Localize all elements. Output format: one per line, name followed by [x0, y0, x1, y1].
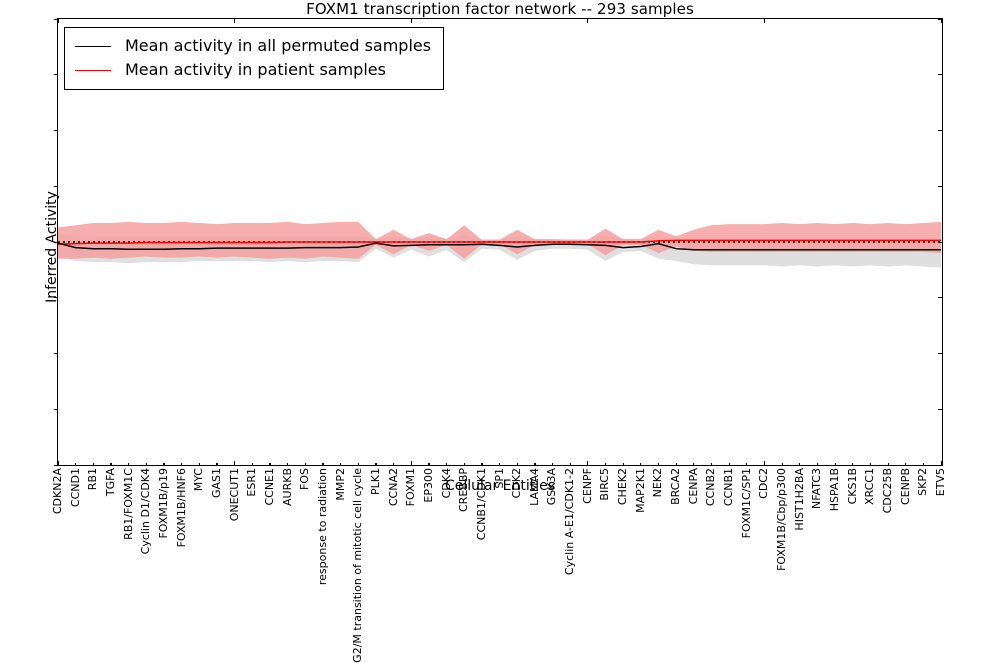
x-category-tick [181, 463, 182, 465]
x-category-tick [305, 463, 306, 465]
x-category-tick [746, 463, 747, 465]
x-category-tick [676, 463, 677, 465]
x-category-tick [782, 463, 783, 465]
x-category-tick [570, 463, 571, 465]
x-category-tick [923, 463, 924, 465]
x-category-tick [587, 463, 588, 465]
x-tick-mark-top [411, 19, 412, 23]
legend: Mean activity in all permuted samples Me… [64, 27, 444, 90]
x-category-tick [852, 463, 853, 465]
x-axis-title: Cellular Entities [0, 478, 1000, 494]
x-category-tick [817, 463, 818, 465]
x-category-tick [75, 463, 76, 465]
x-category-tick [234, 463, 235, 465]
legend-swatch-patient-icon [75, 70, 111, 71]
x-category-tick [905, 463, 906, 465]
x-category-tick [411, 463, 412, 465]
x-category-tick [729, 463, 730, 465]
x-category-tick [110, 463, 111, 465]
y-tick-mark-right [938, 74, 942, 75]
x-tick-mark-top [764, 19, 765, 23]
x-category-tick [322, 463, 323, 465]
legend-label-patient: Mean activity in patient samples [125, 62, 386, 78]
y-tick-mark-right [938, 130, 942, 131]
legend-item-permuted: Mean activity in all permuted samples [75, 34, 431, 58]
x-category-tick [358, 463, 359, 465]
x-category-tick [128, 463, 129, 465]
x-category-tick [711, 463, 712, 465]
x-category-tick [446, 463, 447, 465]
x-category-tick [464, 463, 465, 465]
x-category-tick [163, 463, 164, 465]
x-tick-label: ONECUT1 [229, 468, 240, 521]
x-category-tick [888, 463, 889, 465]
y-tick-mark-right [938, 186, 942, 187]
x-category-tick [764, 463, 765, 465]
y-tick-mark-right [938, 409, 942, 410]
x-category-tick [499, 463, 500, 465]
x-category-tick [640, 463, 641, 465]
x-category-tick [552, 463, 553, 465]
x-tick-mark-top [234, 19, 235, 23]
x-category-tick [93, 463, 94, 465]
x-category-tick [605, 463, 606, 465]
y-tick-mark-right [938, 297, 942, 298]
legend-swatch-permuted-icon [75, 46, 111, 47]
y-tick-mark-right [938, 353, 942, 354]
x-category-tick [252, 463, 253, 465]
x-category-tick [428, 463, 429, 465]
x-category-tick [199, 463, 200, 465]
legend-label-permuted: Mean activity in all permuted samples [125, 38, 431, 54]
x-category-tick [623, 463, 624, 465]
x-category-tick [340, 463, 341, 465]
x-category-tick [287, 463, 288, 465]
x-category-tick [658, 463, 659, 465]
x-category-tick [799, 463, 800, 465]
x-category-tick [517, 463, 518, 465]
x-tick-label: G2/M transition of mitotic cell cycle [352, 468, 363, 663]
x-category-tick [941, 463, 942, 465]
x-tick-mark-top [941, 19, 942, 23]
x-category-tick [693, 463, 694, 465]
y-tick-mark-right [938, 242, 942, 243]
x-category-tick [835, 463, 836, 465]
x-category-tick [375, 463, 376, 465]
x-category-tick [534, 463, 535, 465]
x-tick-mark-top [587, 19, 588, 23]
x-category-tick [481, 463, 482, 465]
x-category-tick [393, 463, 394, 465]
y-axis-title: Inferred Activity [44, 17, 60, 477]
chart-figure: FOXM1 transcription factor network -- 29… [0, 0, 1000, 500]
x-category-tick [870, 463, 871, 465]
x-category-tick [216, 463, 217, 465]
legend-item-patient: Mean activity in patient samples [75, 58, 431, 82]
page-title: FOXM1 transcription factor network -- 29… [0, 0, 1000, 18]
x-category-tick [269, 463, 270, 465]
x-category-tick [146, 463, 147, 465]
